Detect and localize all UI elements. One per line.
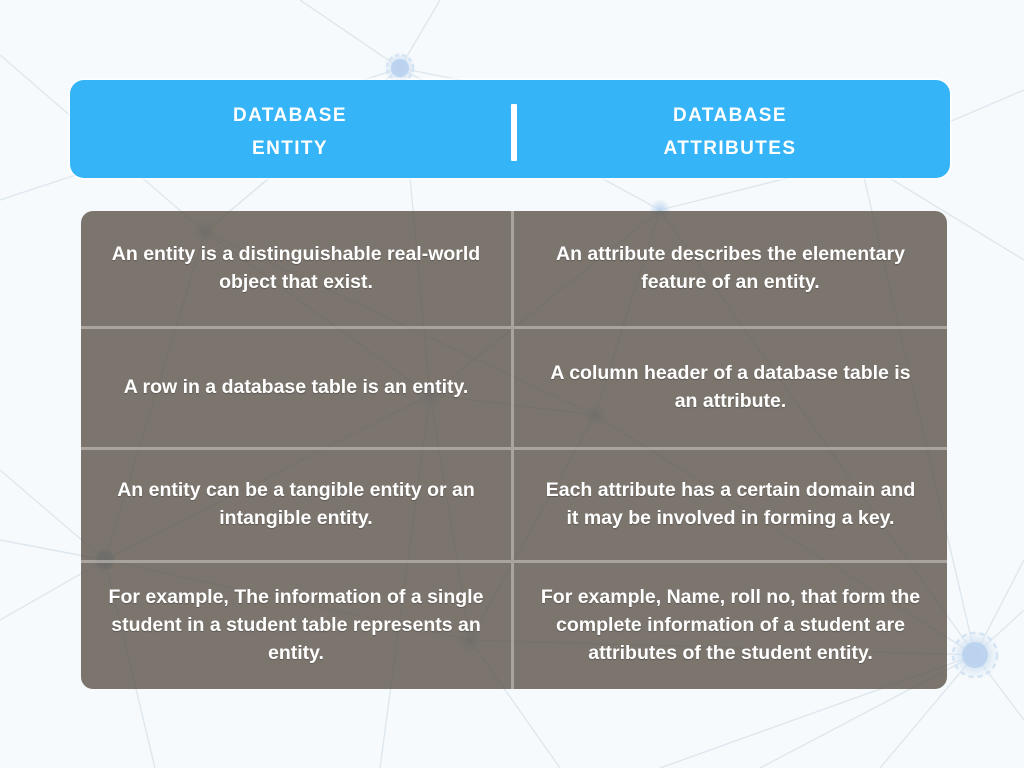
table-cell-entity-3: An entity can be a tangible entity or an… xyxy=(81,450,514,560)
header-attributes-line2: Attributes xyxy=(664,129,797,162)
slide-stage: Database Entity Database Attributes An e… xyxy=(0,0,1024,768)
comparison-header-banner: Database Entity Database Attributes xyxy=(70,80,950,178)
header-attributes-line1: Database xyxy=(673,96,787,129)
table-cell-attributes-4: For example, Name, roll no, that form th… xyxy=(514,563,947,689)
table-row: A row in a database table is an entity. … xyxy=(81,329,947,450)
table-cell-entity-1: An entity is a distinguishable real-worl… xyxy=(81,211,514,326)
table-row: An entity is a distinguishable real-worl… xyxy=(81,211,947,329)
table-cell-entity-4: For example, The information of a single… xyxy=(81,563,514,689)
header-column-attributes: Database Attributes xyxy=(510,80,950,178)
header-entity-line2: Entity xyxy=(252,129,328,162)
table-cell-attributes-3: Each attribute has a certain domain and … xyxy=(514,450,947,560)
header-column-divider xyxy=(511,104,517,161)
table-row: An entity can be a tangible entity or an… xyxy=(81,450,947,563)
table-row: For example, The information of a single… xyxy=(81,563,947,689)
header-entity-line1: Database xyxy=(233,96,347,129)
table-cell-entity-2: A row in a database table is an entity. xyxy=(81,329,514,447)
table-cell-attributes-1: An attribute describes the elementary fe… xyxy=(514,211,947,326)
table-cell-attributes-2: A column header of a database table is a… xyxy=(514,329,947,447)
comparison-table: An entity is a distinguishable real-worl… xyxy=(81,211,947,689)
header-column-entity: Database Entity xyxy=(70,80,510,178)
